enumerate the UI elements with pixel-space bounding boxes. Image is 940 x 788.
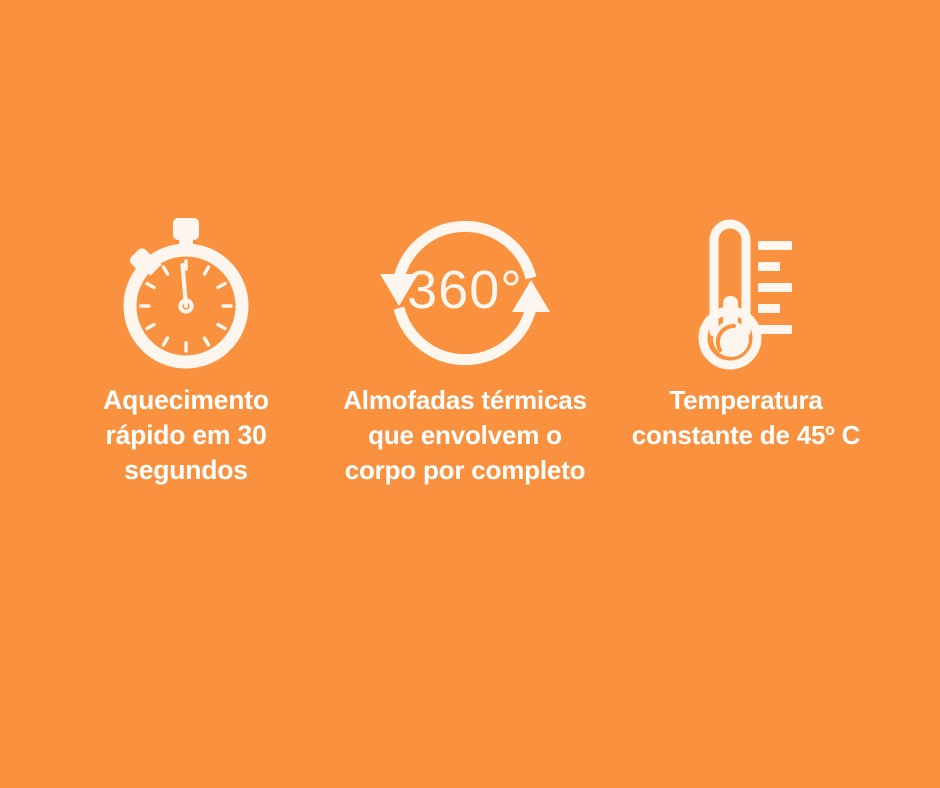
feature-item-aquecimento: Aquecimento rápido em 30 segundos bbox=[70, 212, 302, 488]
feature-item-almofadas: 360° Almofadas térmicas que envolvem o c… bbox=[334, 212, 596, 488]
rotate-360-icon: 360° bbox=[372, 212, 558, 374]
stopwatch-icon bbox=[121, 212, 251, 374]
feature-caption: Temperatura constante de 45º C bbox=[622, 383, 870, 453]
feature-caption: Aquecimento rápido em 30 segundos bbox=[70, 383, 302, 488]
feature-caption: Almofadas térmicas que envolvem o corpo … bbox=[334, 383, 596, 488]
feature-list: Aquecimento rápido em 30 segundos bbox=[0, 212, 940, 488]
promo-banner: Aquecimento rápido em 30 segundos bbox=[0, 0, 940, 788]
feature-item-temperatura: Temperatura constante de 45º C bbox=[622, 212, 870, 453]
rotate-360-label: 360° bbox=[407, 260, 523, 320]
thermometer-icon bbox=[690, 212, 802, 374]
